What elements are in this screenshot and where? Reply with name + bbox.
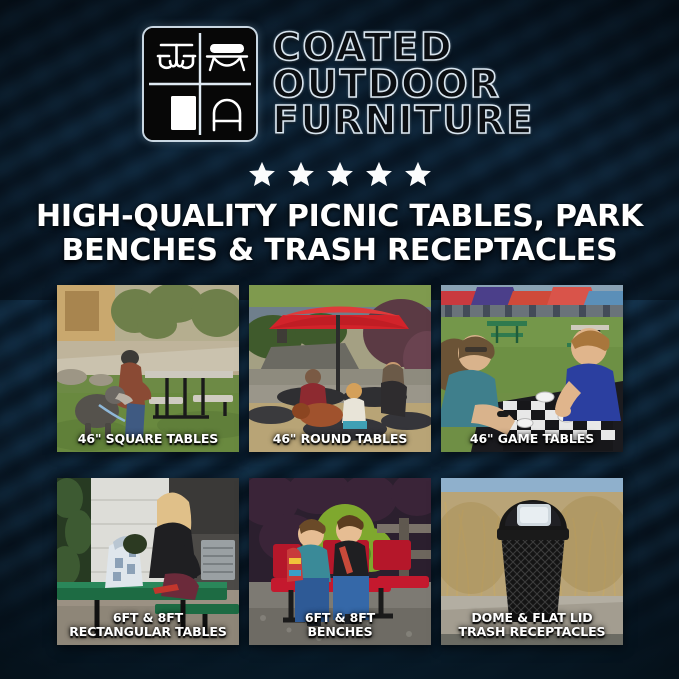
product-label-line-1: 6FT & 8FT xyxy=(113,610,183,625)
product-card[interactable]: 46" ROUND TABLES xyxy=(249,285,431,452)
product-card[interactable]: DOME & FLAT LID TRASH RECEPTACLES xyxy=(441,478,623,645)
photo-square-table-woman-with-dog xyxy=(57,285,239,452)
product-card[interactable]: 46" GAME TABLES xyxy=(441,285,623,452)
product-banner: COATED OUTDOOR FURNITURE HIGH-QUALITY PI… xyxy=(0,0,679,679)
product-label: 6FT & 8FT BENCHES xyxy=(253,611,427,638)
wordmark-line-1: COATED xyxy=(272,29,453,66)
product-card[interactable]: 6FT & 8FT BENCHES xyxy=(249,478,431,645)
product-grid: 46" SQUARE TABLES xyxy=(57,285,623,645)
star-rating xyxy=(0,160,679,189)
headline-line-2: BENCHES & TRASH RECEPTACLES xyxy=(26,234,653,268)
wordmark-line-3: FURNITURE xyxy=(272,102,534,139)
product-card[interactable]: 46" SQUARE TABLES xyxy=(57,285,239,452)
product-label-line-1: DOME & FLAT LID xyxy=(471,610,592,625)
product-label-line-1: 46" SQUARE TABLES xyxy=(78,431,218,446)
photo-round-table-red-umbrella-family xyxy=(249,285,431,452)
coated-outdoor-furniture-logo xyxy=(144,28,256,140)
product-label-line-1: 46" GAME TABLES xyxy=(470,431,594,446)
product-label: 46" GAME TABLES xyxy=(445,432,619,446)
star-icon xyxy=(247,160,277,189)
product-label-line-2: TRASH RECEPTACLES xyxy=(445,625,619,639)
star-icon xyxy=(286,160,316,189)
product-card[interactable]: 6FT & 8FT RECTANGULAR TABLES xyxy=(57,478,239,645)
star-icon xyxy=(325,160,355,189)
product-label: 46" ROUND TABLES xyxy=(253,432,427,446)
product-label: 46" SQUARE TABLES xyxy=(61,432,235,446)
product-label-line-1: 46" ROUND TABLES xyxy=(273,431,408,446)
product-label: DOME & FLAT LID TRASH RECEPTACLES xyxy=(445,611,619,638)
star-icon xyxy=(403,160,433,189)
product-label-line-2: BENCHES xyxy=(253,625,427,639)
product-label: 6FT & 8FT RECTANGULAR TABLES xyxy=(61,611,235,638)
photo-game-table-checkerboard-players xyxy=(441,285,623,452)
star-icon xyxy=(364,160,394,189)
headline: HIGH-QUALITY PICNIC TABLES, PARK BENCHES… xyxy=(0,200,679,267)
product-label-line-2: RECTANGULAR TABLES xyxy=(61,625,235,639)
brand-wordmark: COATED OUTDOOR FURNITURE xyxy=(272,29,534,140)
headline-line-1: HIGH-QUALITY PICNIC TABLES, PARK xyxy=(26,200,653,234)
brand-logo: COATED OUTDOOR FURNITURE xyxy=(0,28,679,140)
wordmark-line-2: OUTDOOR xyxy=(272,66,501,103)
product-label-line-1: 6FT & 8FT xyxy=(305,610,375,625)
